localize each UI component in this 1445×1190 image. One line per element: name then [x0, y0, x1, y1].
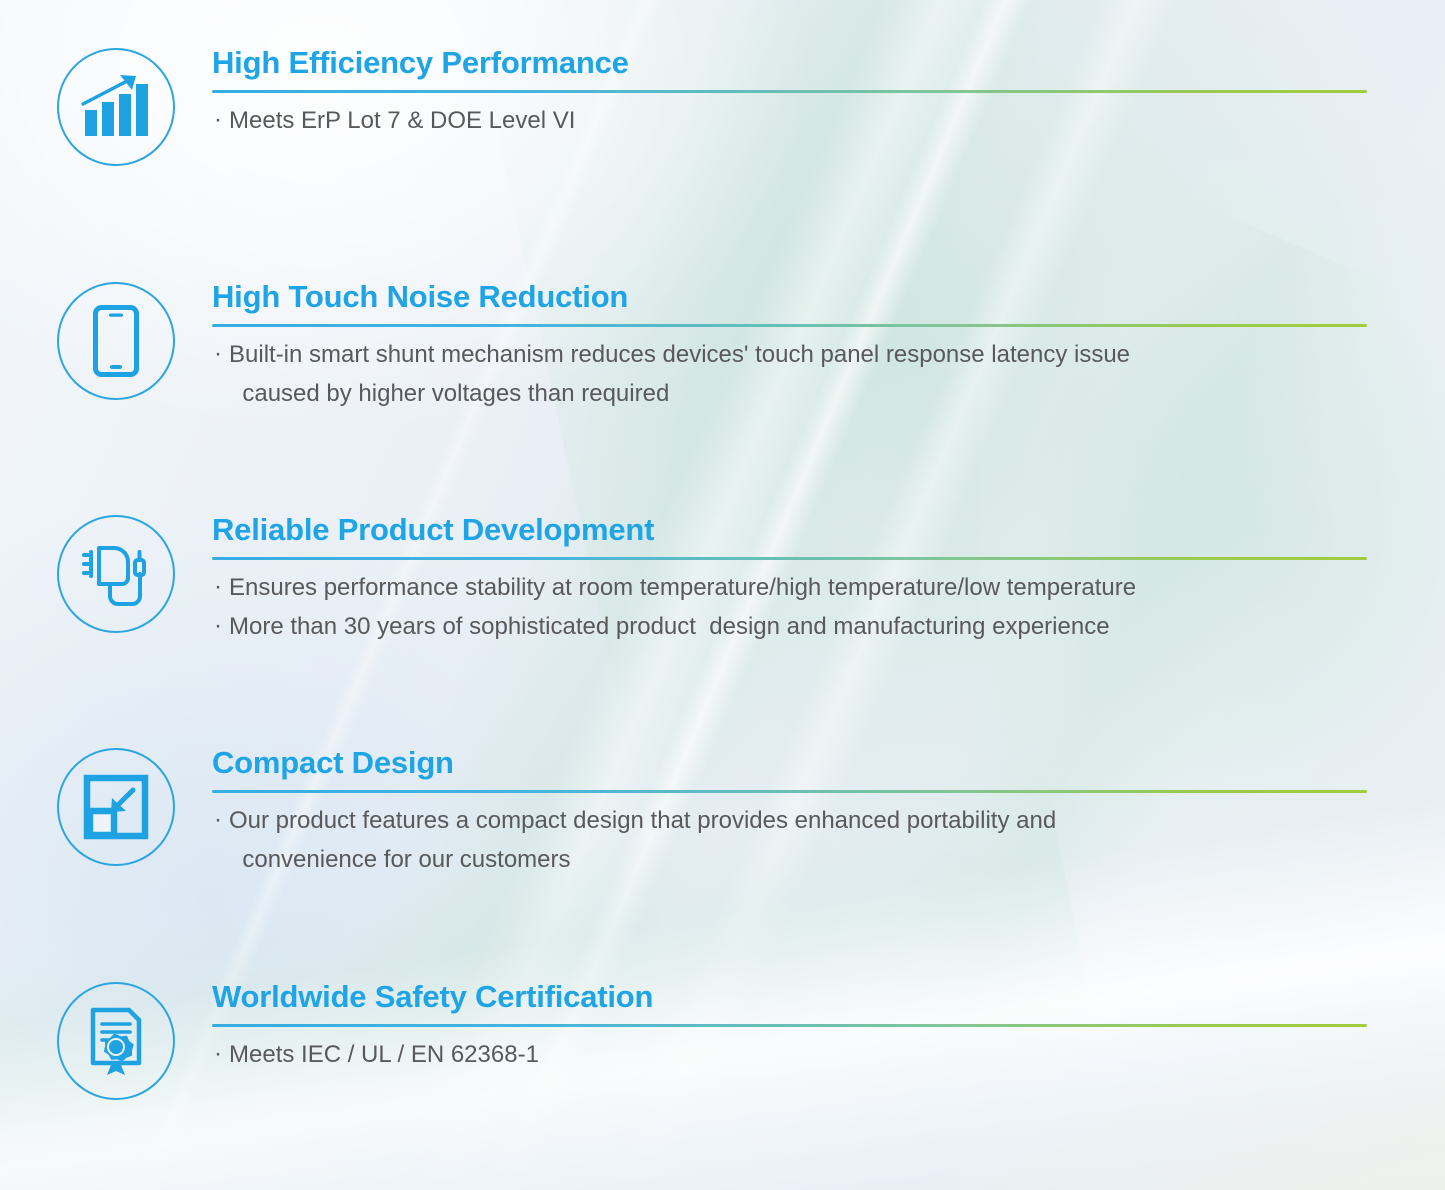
feature-divider: [212, 90, 1367, 93]
feature-item-worldwide-safety-certification: Worldwide Safety Certification Meets IEC…: [0, 980, 1445, 1100]
feature-item-compact-design: Compact Design Our product features a co…: [0, 746, 1445, 879]
feature-bullet-list: Meets ErP Lot 7 & DOE Level VI: [212, 102, 1367, 141]
feature-bullet-list: Built-in smart shunt mechanism reduces d…: [212, 336, 1367, 414]
list-item: Ensures performance stability at room te…: [212, 569, 1367, 608]
certificate-award-icon: [57, 982, 175, 1100]
feature-highlights-page: High Efficiency Performance Meets ErP Lo…: [0, 0, 1445, 1190]
feature-bullet-list: Ensures performance stability at room te…: [212, 569, 1367, 647]
feature-item-reliable-product-development: Reliable Product Development Ensures per…: [0, 513, 1445, 646]
feature-item-high-touch-noise-reduction: High Touch Noise Reduction Built-in smar…: [0, 280, 1445, 413]
feature-title: Compact Design: [212, 746, 1367, 781]
power-adapter-icon: [57, 515, 175, 633]
feature-icon-wrap: [50, 513, 182, 633]
feature-icon-wrap: [50, 280, 182, 400]
feature-body: Reliable Product Development Ensures per…: [182, 513, 1445, 646]
feature-body: High Touch Noise Reduction Built-in smar…: [182, 280, 1445, 413]
feature-icon-wrap: [50, 46, 182, 166]
feature-bullet-list: Our product features a compact design th…: [212, 802, 1367, 880]
list-item: Meets IEC / UL / EN 62368-1: [212, 1036, 1367, 1075]
feature-body: High Efficiency Performance Meets ErP Lo…: [182, 46, 1445, 141]
feature-divider: [212, 324, 1367, 327]
feature-icon-wrap: [50, 980, 182, 1100]
feature-title: Worldwide Safety Certification: [212, 980, 1367, 1015]
bar-chart-growth-icon: [57, 48, 175, 166]
feature-body: Compact Design Our product features a co…: [182, 746, 1445, 879]
feature-divider: [212, 557, 1367, 560]
feature-bullet-list: Meets IEC / UL / EN 62368-1: [212, 1036, 1367, 1075]
feature-title: High Efficiency Performance: [212, 46, 1367, 81]
compact-resize-icon: [57, 748, 175, 866]
feature-title: Reliable Product Development: [212, 513, 1367, 548]
feature-title: High Touch Noise Reduction: [212, 280, 1367, 315]
feature-divider: [212, 790, 1367, 793]
smartphone-icon: [57, 282, 175, 400]
list-item: More than 30 years of sophisticated prod…: [212, 608, 1367, 647]
list-item: Meets ErP Lot 7 & DOE Level VI: [212, 102, 1367, 141]
feature-divider: [212, 1024, 1367, 1027]
feature-item-high-efficiency-performance: High Efficiency Performance Meets ErP Lo…: [0, 46, 1445, 166]
feature-body: Worldwide Safety Certification Meets IEC…: [182, 980, 1445, 1075]
list-item: Built-in smart shunt mechanism reduces d…: [212, 336, 1367, 414]
feature-icon-wrap: [50, 746, 182, 866]
list-item: Our product features a compact design th…: [212, 802, 1367, 880]
